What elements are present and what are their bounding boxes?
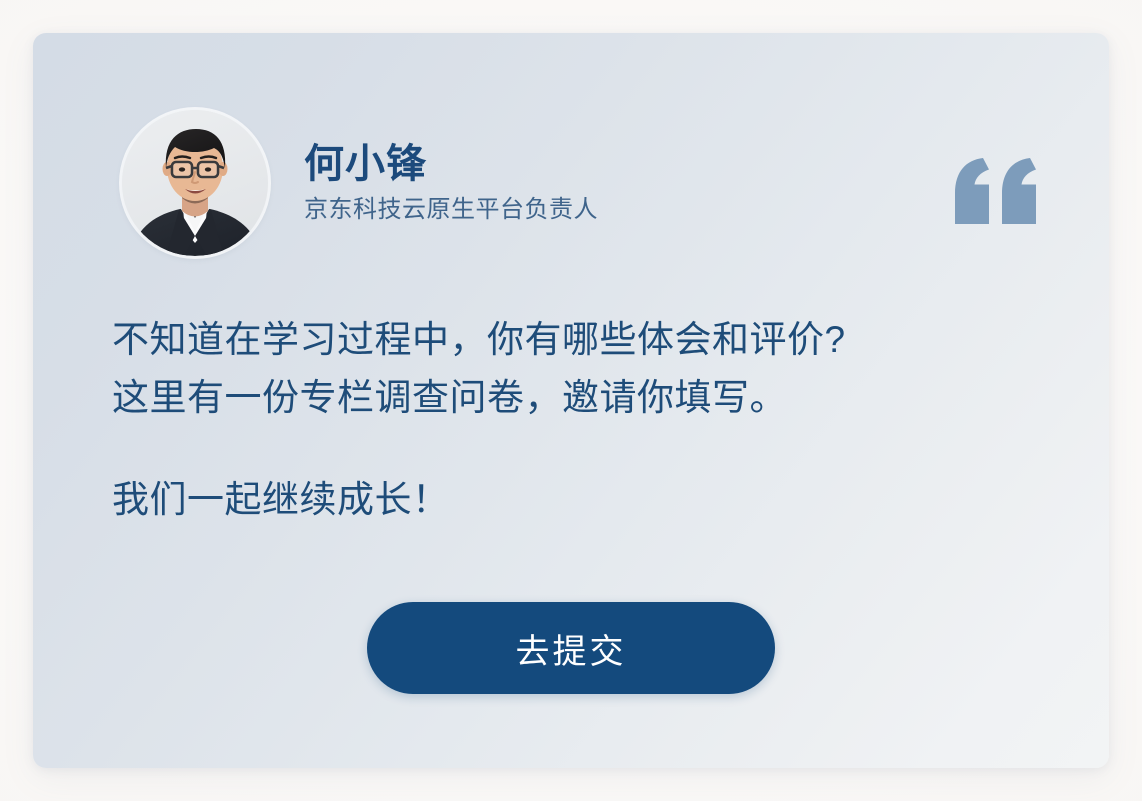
cta-container: 去提交 [367, 602, 775, 694]
person-name: 何小锋 [304, 141, 598, 188]
message-line-2: 这里有一份专栏调查问卷，邀请你填写。 [112, 369, 1012, 427]
message-body: 不知道在学习过程中，你有哪些体会和评价? 这里有一份专栏调查问卷，邀请你填写。 … [112, 311, 1012, 529]
avatar [122, 110, 268, 256]
message-line-1: 不知道在学习过程中，你有哪些体会和评价? [112, 311, 1012, 369]
left-double-quotation-mark-icon [953, 158, 1039, 224]
person-portrait-avatar-icon [122, 110, 268, 256]
message-line-3: 我们一起继续成长！ [112, 471, 1012, 529]
profile-header: 何小锋 京东科技云原生平台负责人 [122, 110, 598, 256]
submit-button[interactable]: 去提交 [367, 602, 775, 694]
name-column: 何小锋 京东科技云原生平台负责人 [304, 141, 598, 225]
page-canvas: 何小锋 京东科技云原生平台负责人 不知道在学习过程中，你有哪些体会和评价? 这里… [0, 0, 1142, 801]
quote-card: 何小锋 京东科技云原生平台负责人 不知道在学习过程中，你有哪些体会和评价? 这里… [33, 33, 1109, 768]
person-title: 京东科技云原生平台负责人 [304, 196, 598, 225]
